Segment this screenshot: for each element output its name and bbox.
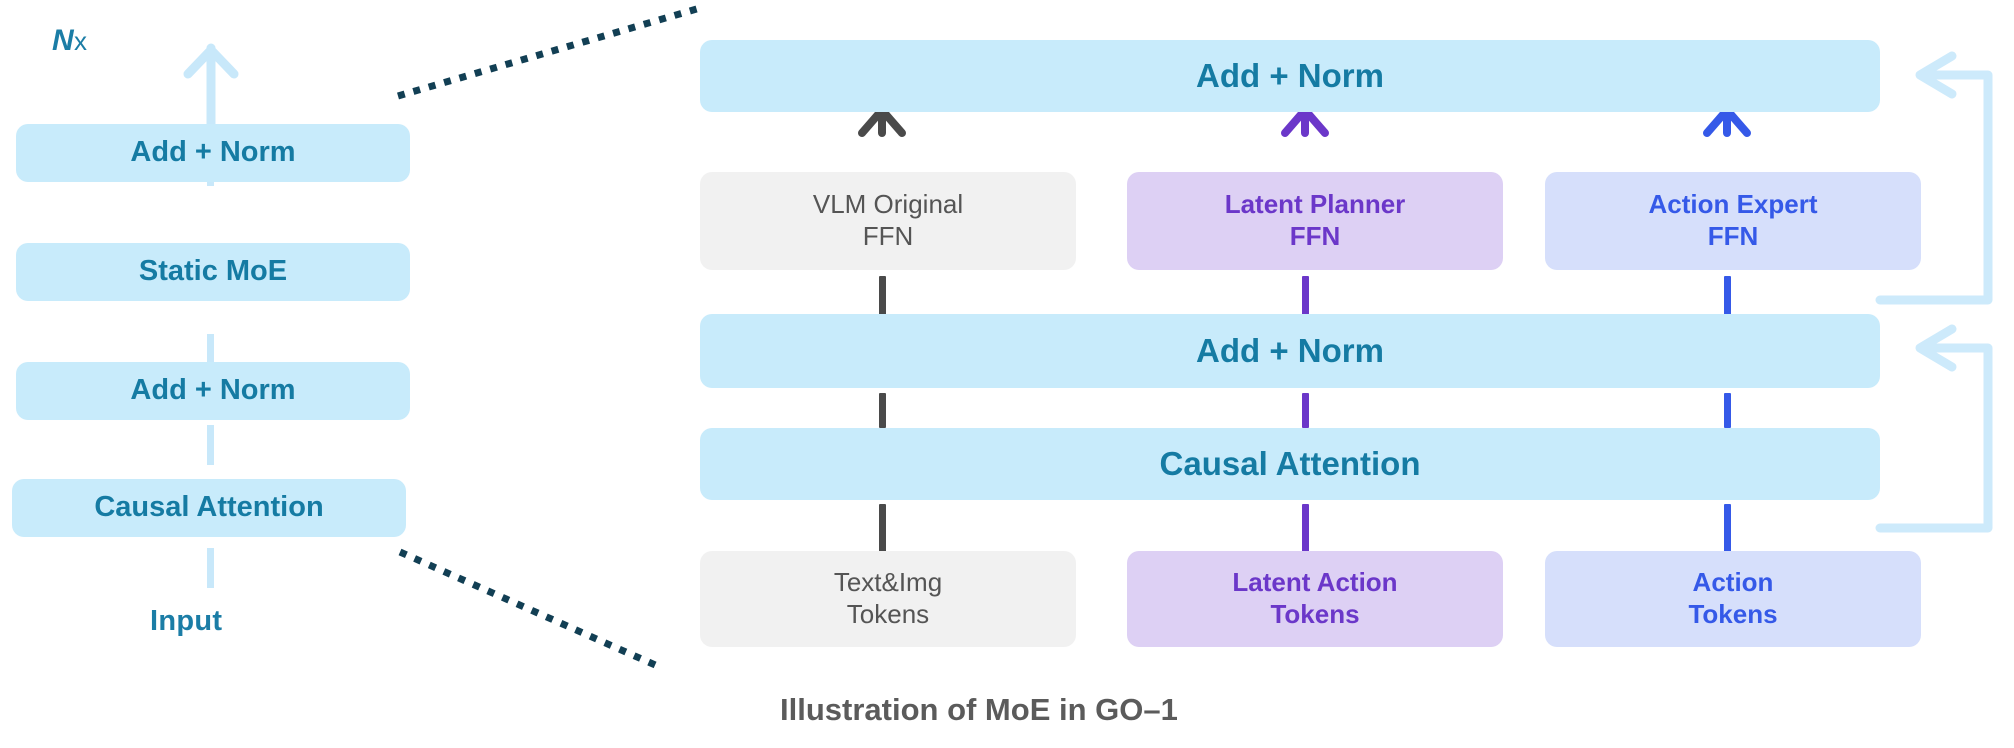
connector-text-tokens-to-attention <box>879 504 886 552</box>
repeat-count-unit: x <box>74 26 87 56</box>
left-block-add-norm-bottom[interactable]: Add + Norm <box>16 362 410 420</box>
ffn-box-line2: FFN <box>1290 221 1341 253</box>
ffn-box-line1: Action Expert <box>1648 189 1817 221</box>
left-block-static-moe[interactable]: Static MoE <box>16 243 410 301</box>
ffn-box-line2: FFN <box>863 221 914 253</box>
connector-latent-tokens-to-attention <box>1302 504 1309 552</box>
right-block-label: Causal Attention <box>1160 444 1421 484</box>
flow-arrow-vlm <box>862 110 902 133</box>
ffn-box-line2: FFN <box>1708 221 1759 253</box>
left-block-label: Add + Norm <box>130 135 295 170</box>
dotted-connector-bottom <box>400 552 662 668</box>
ffn-box-line1: Latent Planner <box>1225 189 1406 221</box>
token-box-action[interactable]: Action Tokens <box>1545 551 1921 647</box>
left-spine-5 <box>207 548 214 588</box>
token-box-line1: Text&Img <box>834 567 942 599</box>
repeat-count-value: N <box>52 24 74 57</box>
connector-addnorm-to-attention-col1 <box>879 393 886 428</box>
token-box-line1: Latent Action <box>1232 567 1397 599</box>
token-box-line2: Tokens <box>1270 599 1359 631</box>
token-box-line2: Tokens <box>847 599 929 631</box>
input-label: Input <box>150 605 222 638</box>
left-block-label: Causal Attention <box>94 490 323 525</box>
ffn-box-line1: VLM Original <box>813 189 963 221</box>
flow-arrow-action-expert <box>1707 110 1747 133</box>
right-block-causal-attention[interactable]: Causal Attention <box>700 428 1880 500</box>
connector-addnorm-to-attention-col2 <box>1302 393 1309 428</box>
right-block-add-norm-top[interactable]: Add + Norm <box>700 40 1880 112</box>
dotted-connector-top <box>398 8 700 96</box>
left-block-label: Static MoE <box>139 254 287 289</box>
ffn-box-vlm-original[interactable]: VLM Original FFN <box>700 172 1076 270</box>
token-box-text-img[interactable]: Text&Img Tokens <box>700 551 1076 647</box>
flow-arrow-latent-planner <box>1285 110 1325 133</box>
left-block-label: Add + Norm <box>130 373 295 408</box>
moe-diagram: Nx Add + Norm Static MoE Add + Norm Caus… <box>0 0 2014 748</box>
right-block-label: Add + Norm <box>1196 331 1384 371</box>
ffn-box-latent-planner[interactable]: Latent Planner FFN <box>1127 172 1503 270</box>
right-block-add-norm-mid[interactable]: Add + Norm <box>700 314 1880 388</box>
right-block-label: Add + Norm <box>1196 56 1384 96</box>
token-box-line2: Tokens <box>1688 599 1777 631</box>
connector-addnorm-to-attention-col3 <box>1724 393 1731 428</box>
ffn-box-action-expert[interactable]: Action Expert FFN <box>1545 172 1921 270</box>
left-spine-4 <box>207 425 214 465</box>
residual-arrow-lower <box>1880 329 1988 528</box>
repeat-count-label: Nx <box>52 24 87 58</box>
left-block-add-norm-top[interactable]: Add + Norm <box>16 124 410 182</box>
left-flow-arrow <box>188 48 234 128</box>
connector-action-tokens-to-attention <box>1724 504 1731 552</box>
diagram-caption: Illustration of MoE in GO–1 <box>780 692 1178 728</box>
token-box-line1: Action <box>1693 567 1774 599</box>
token-box-latent-action[interactable]: Latent Action Tokens <box>1127 551 1503 647</box>
left-block-causal-attention[interactable]: Causal Attention <box>12 479 406 537</box>
